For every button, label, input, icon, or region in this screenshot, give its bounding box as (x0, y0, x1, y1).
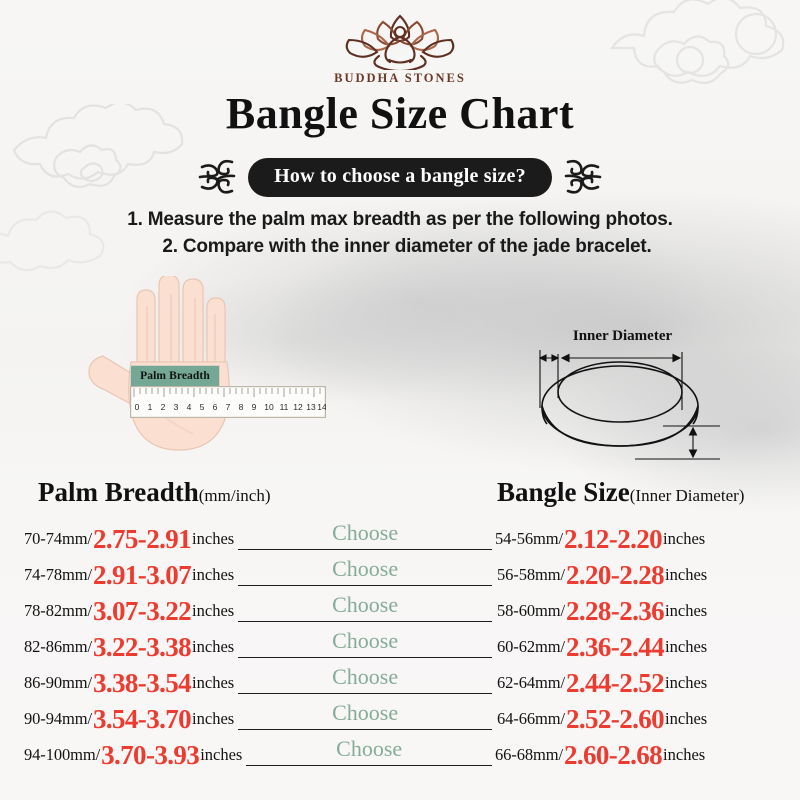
palm-breadth-band: Palm Breadth (130, 365, 220, 387)
choose-label: Choose (332, 664, 398, 690)
bangle-size-heading: Bangle Size(Inner Diameter) (497, 477, 744, 508)
palm-breadth-table: 70-74mm/ 2.75-2.91 inches Choose 74-78mm… (24, 521, 492, 773)
table-row: 60-62mm/ 2.36-2.44 inches (495, 629, 795, 665)
choose-field[interactable]: Choose (238, 629, 492, 665)
row-unit: inches (665, 601, 707, 621)
row-unit: inches (200, 745, 242, 765)
bangle-size-table: 54-56mm/ 2.12-2.20 inches 56-58mm/ 2.20-… (495, 521, 795, 773)
ruler-icon: 012 345 678 91011 121314 (130, 386, 326, 418)
choose-label: Choose (332, 556, 398, 582)
row-mm: 94-100mm/ (24, 745, 100, 765)
row-unit: inches (663, 529, 705, 549)
choose-field[interactable]: Choose (238, 593, 492, 629)
row-unit: inches (663, 745, 705, 765)
svg-text:9: 9 (252, 402, 257, 412)
row-mm: 86-90mm/ (24, 673, 92, 693)
row-mm: 58-60mm/ (497, 601, 565, 621)
row-inches: 2.28-2.36 (565, 596, 665, 627)
row-inches: 2.75-2.91 (92, 524, 192, 555)
bangle-ring-diagram-icon (515, 328, 730, 473)
choose-field[interactable]: Choose (238, 701, 492, 737)
instruction-line-2: 2. Compare with the inner diameter of th… (0, 234, 800, 261)
row-inches: 2.12-2.20 (563, 524, 663, 555)
row-inches: 2.60-2.68 (563, 740, 663, 771)
row-mm: 66-68mm/ (495, 745, 563, 765)
table-row: 94-100mm/ 3.70-3.93 inches Choose (24, 737, 492, 773)
lotus-meditation-icon (337, 8, 463, 70)
row-mm: 64-66mm/ (497, 709, 565, 729)
subtitle-row: How to choose a bangle size? (0, 155, 800, 199)
row-inches: 2.20-2.28 (565, 560, 665, 591)
row-mm: 82-86mm/ (24, 637, 92, 657)
row-unit: inches (665, 637, 707, 657)
choose-field[interactable]: Choose (246, 737, 492, 773)
table-row: 66-68mm/ 2.60-2.68 inches (495, 737, 795, 773)
choose-label: Choose (332, 592, 398, 618)
palm-breadth-heading: Palm Breadth(mm/inch) (38, 477, 271, 508)
inner-diameter-label: Inner Diameter (515, 328, 730, 345)
row-inches: 2.91-3.07 (92, 560, 192, 591)
table-row: 54-56mm/ 2.12-2.20 inches (495, 521, 795, 557)
row-unit: inches (192, 601, 234, 621)
row-inches: 2.44-2.52 (565, 668, 665, 699)
bangle-size-heading-sub: (Inner Diameter) (630, 486, 745, 505)
row-unit: inches (192, 565, 234, 585)
choose-label: Choose (332, 520, 398, 546)
brand-logo: BUDDHA STONES (0, 8, 800, 86)
choose-label: Choose (336, 736, 402, 762)
instructions-block: 1. Measure the palm max breadth as per t… (0, 207, 800, 261)
svg-text:3: 3 (174, 402, 179, 412)
svg-text:0: 0 (135, 402, 140, 412)
svg-text:11: 11 (280, 402, 289, 412)
row-inches: 3.22-3.38 (92, 632, 192, 663)
table-row: 86-90mm/ 3.38-3.54 inches Choose (24, 665, 492, 701)
bangle-diagram-figure: Inner Diameter (515, 328, 730, 473)
row-inches: 3.07-3.22 (92, 596, 192, 627)
choose-underline (238, 585, 492, 586)
svg-text:8: 8 (239, 402, 244, 412)
choose-field[interactable]: Choose (238, 521, 492, 557)
table-row: 74-78mm/ 2.91-3.07 inches Choose (24, 557, 492, 593)
table-row: 58-60mm/ 2.28-2.36 inches (495, 593, 795, 629)
table-row: 70-74mm/ 2.75-2.91 inches Choose (24, 521, 492, 557)
hand-palm-figure: Palm Breadth 012 345 678 91011 121314 (85, 276, 355, 472)
row-unit: inches (192, 673, 234, 693)
instruction-line-1: 1. Measure the palm max breadth as per t… (0, 207, 800, 234)
row-mm: 60-62mm/ (497, 637, 565, 657)
choose-field[interactable]: Choose (238, 557, 492, 593)
bangle-size-chart-page: BUDDHA STONES Bangle Size Chart How to c… (0, 0, 800, 800)
choose-underline (238, 549, 492, 550)
ornament-flourish-left-icon (196, 155, 238, 199)
svg-text:2: 2 (161, 402, 166, 412)
hand-palm-with-ruler-icon (85, 276, 355, 472)
row-mm: 62-64mm/ (497, 673, 565, 693)
svg-text:13: 13 (306, 402, 316, 412)
row-mm: 70-74mm/ (24, 529, 92, 549)
row-mm: 56-58mm/ (497, 565, 565, 585)
row-inches: 2.52-2.60 (565, 704, 665, 735)
row-unit: inches (665, 565, 707, 585)
row-mm: 78-82mm/ (24, 601, 92, 621)
choose-underline (238, 621, 492, 622)
choose-underline (238, 657, 492, 658)
row-mm: 74-78mm/ (24, 565, 92, 585)
choose-field[interactable]: Choose (238, 665, 492, 701)
row-unit: inches (665, 673, 707, 693)
row-inches: 3.70-3.93 (100, 740, 200, 771)
choose-underline (246, 765, 492, 766)
choose-label: Choose (332, 700, 398, 726)
svg-text:6: 6 (213, 402, 218, 412)
row-mm: 54-56mm/ (495, 529, 563, 549)
table-row: 78-82mm/ 3.07-3.22 inches Choose (24, 593, 492, 629)
table-row: 64-66mm/ 2.52-2.60 inches (495, 701, 795, 737)
row-unit: inches (192, 637, 234, 657)
page-title: Bangle Size Chart (0, 88, 800, 139)
choose-label: Choose (332, 628, 398, 654)
row-inches: 3.54-3.70 (92, 704, 192, 735)
row-unit: inches (665, 709, 707, 729)
svg-text:7: 7 (226, 402, 231, 412)
table-row: 90-94mm/ 3.54-3.70 inches Choose (24, 701, 492, 737)
palm-breadth-heading-sub: (mm/inch) (199, 486, 271, 505)
choose-underline (238, 729, 492, 730)
ornament-flourish-right-icon (562, 155, 604, 199)
row-unit: inches (192, 529, 234, 549)
row-unit: inches (192, 709, 234, 729)
brand-name: BUDDHA STONES (0, 71, 800, 86)
palm-breadth-heading-main: Palm Breadth (38, 477, 199, 507)
table-row: 56-58mm/ 2.20-2.28 inches (495, 557, 795, 593)
svg-text:1: 1 (148, 402, 153, 412)
table-row: 82-86mm/ 3.22-3.38 inches Choose (24, 629, 492, 665)
svg-text:12: 12 (293, 402, 303, 412)
bangle-size-heading-main: Bangle Size (497, 477, 630, 507)
how-to-choose-pill[interactable]: How to choose a bangle size? (248, 158, 552, 197)
row-inches: 2.36-2.44 (565, 632, 665, 663)
choose-underline (238, 693, 492, 694)
row-mm: 90-94mm/ (24, 709, 92, 729)
svg-text:4: 4 (187, 402, 192, 412)
svg-text:5: 5 (200, 402, 205, 412)
table-row: 62-64mm/ 2.44-2.52 inches (495, 665, 795, 701)
svg-text:10: 10 (264, 402, 274, 412)
row-inches: 3.38-3.54 (92, 668, 192, 699)
svg-text:14: 14 (317, 402, 326, 412)
